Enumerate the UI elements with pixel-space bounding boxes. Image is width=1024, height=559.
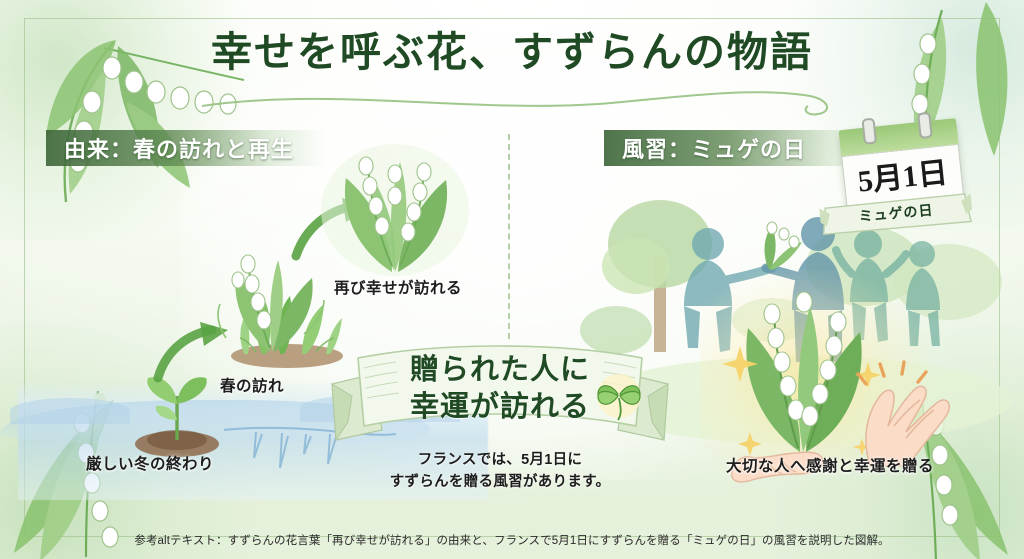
caption-spring: 春の訪れ	[220, 374, 284, 396]
title-swoosh-decoration	[182, 80, 842, 120]
ribbon-sub-line-2: すずらんを贈る風習があります。	[330, 472, 670, 494]
caption-winter: 厳しい冬の終わり	[86, 452, 214, 474]
ribbon-subtext: フランスでは、5月1日に すずらんを贈る風習があります。	[330, 450, 670, 494]
calendar-ring-left	[861, 118, 877, 145]
footer-alt-text: 参考altテキスト：すずらんの花言葉「再び幸せが訪れる」の由来と、フランスで5月…	[0, 532, 1024, 548]
section-divider	[508, 134, 510, 339]
highlight-ribbon: 贈られた人に 幸運が訪れる	[330, 338, 670, 450]
infographic-page: 幸せを呼ぶ花、すずらんの物語 由来：春の訪れと再生 風習：ミュゲの日	[0, 0, 1024, 559]
section-header-origin-label: 由来：春の訪れと再生	[64, 132, 294, 164]
page-title-wrap: 幸せを呼ぶ花、すずらんの物語	[0, 28, 1024, 77]
calendar-ring-right	[917, 112, 933, 139]
section-header-custom-label: 風習：ミュゲの日	[622, 132, 806, 164]
section-header-origin: 由来：春の訪れと再生	[46, 130, 326, 166]
ribbon-sub-line-1: フランスでは、5月1日に	[330, 450, 670, 472]
caption-gift: 大切な人へ感謝と幸運を贈る	[726, 454, 934, 476]
page-title: 幸せを呼ぶ花、すずらんの物語	[0, 28, 1024, 77]
lily-plant-bloom-illustration	[320, 140, 470, 280]
caption-bloom: 再び幸せが訪れる	[334, 276, 462, 298]
four-leaf-clover-icon	[592, 368, 646, 422]
snow-hill-left	[10, 398, 130, 424]
joy-lines	[858, 362, 926, 384]
